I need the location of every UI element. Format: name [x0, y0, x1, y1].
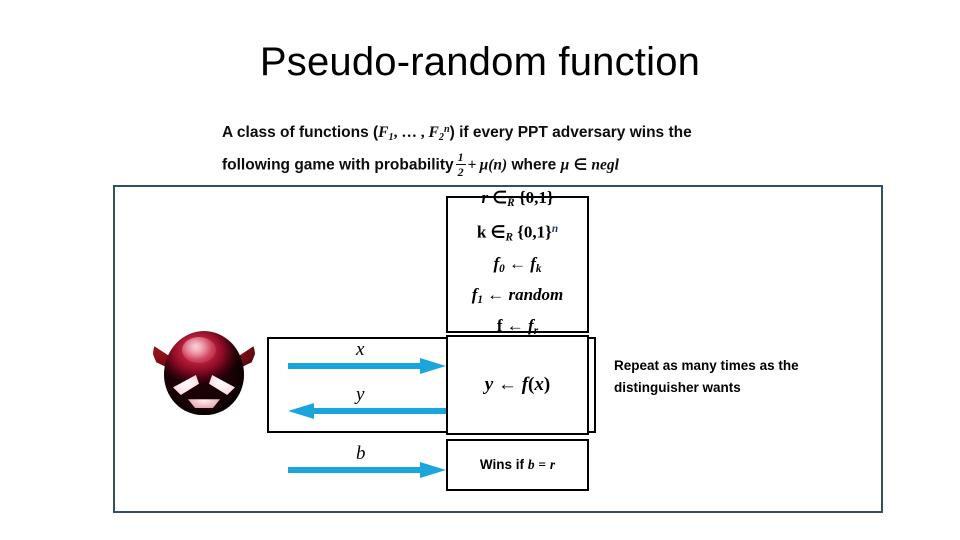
bit-set: {0,1}: [519, 188, 554, 207]
assign-arrow-3: ←: [507, 316, 524, 335]
response-y-arrow-row: y: [288, 385, 446, 419]
win-condition-text: Wins if b = r: [480, 457, 555, 473]
element-of-symbol: ∈: [574, 156, 588, 173]
random-symbol: random: [508, 285, 563, 304]
repeat-annotation: Repeat as many times as the distinguishe…: [614, 355, 842, 399]
devil-face-icon: [164, 331, 244, 415]
repeat-annotation-line-2: distinguisher wants: [614, 377, 842, 399]
win-condition-box: Wins if b = r: [446, 439, 589, 491]
repeat-annotation-line-1: Repeat as many times as the: [614, 355, 842, 377]
definition-line-1: A class of functions (F1, … , F2n) if ev…: [222, 116, 742, 151]
r-symbol: r: [481, 188, 488, 207]
setup-box: r ∈R {0,1} k ∈R {0,1}n f0 ← fk f1 ← rand…: [446, 196, 589, 333]
assign-arrow-2: ←: [487, 285, 504, 304]
definition-line2-prefix: following game with probability: [222, 156, 454, 173]
f0-subscript: 0: [499, 263, 505, 275]
definition-text: A class of functions (F1, … , F2n) if ev…: [222, 116, 742, 178]
function-symbol-F2: F: [429, 124, 439, 141]
setup-line-f0: f0 ← fk: [472, 251, 564, 282]
fraction-denominator: 2: [456, 166, 466, 178]
arrow-left-icon: [288, 403, 446, 437]
devil-adversary-icon: [152, 317, 256, 417]
setup-line-r: r ∈R {0,1}: [472, 185, 564, 216]
devil-mouth-icon: [188, 397, 220, 408]
oracle-response-box: y ← f(x): [446, 335, 589, 435]
oracle-assign-arrow: ←: [498, 374, 517, 395]
win-prefix: Wins if: [480, 457, 524, 472]
response-y-label: y: [356, 385, 364, 404]
n-symbol: n: [493, 156, 502, 173]
definition-line1-prefix: A class of functions (: [222, 124, 378, 141]
fraction-numerator: 1: [456, 151, 466, 163]
oracle-paren-close: ): [544, 374, 550, 395]
element-of-random-subscript-2: R: [505, 232, 512, 244]
devil-highlight: [182, 337, 216, 363]
k-symbol: k: [477, 222, 486, 241]
page-title: Pseudo-random function: [0, 40, 960, 84]
negl-symbol: negl: [591, 156, 619, 173]
element-of-random-subscript: R: [507, 197, 514, 209]
assign-arrow-1: ←: [509, 254, 526, 273]
bit-set-2: {0,1}: [517, 222, 552, 241]
element-of-random-symbol: ∈: [492, 188, 507, 207]
guess-b-label: b: [356, 444, 366, 463]
function-symbol-F1: F: [378, 124, 388, 141]
oracle-x-symbol: x: [534, 374, 544, 395]
definition-line-2: following game with probability12+ μ(n) …: [222, 151, 742, 179]
fk-subscript: k: [536, 263, 542, 275]
definition-where: where: [512, 156, 557, 173]
mu-symbol: μ: [480, 156, 489, 173]
devil-eye-right-icon: [209, 375, 235, 395]
equals-operator: =: [538, 457, 546, 472]
bit-set-exponent: n: [552, 223, 558, 235]
f-symbol: f: [497, 316, 503, 335]
arrow-right-icon: [288, 462, 446, 496]
element-of-random-symbol-2: ∈: [491, 222, 506, 241]
setup-line-f1: f1 ← random: [472, 282, 564, 313]
query-x-arrow-row: x: [288, 340, 446, 374]
f1-subscript: 1: [477, 294, 483, 306]
guess-b-arrow-row: b: [288, 444, 446, 478]
paren-close: ): [502, 156, 507, 173]
win-r-symbol: r: [550, 457, 555, 472]
devil-eye-left-icon: [173, 375, 199, 395]
mu-symbol-2: μ: [561, 156, 570, 173]
query-x-label: x: [356, 340, 364, 359]
definition-ellipsis: , … ,: [394, 124, 429, 141]
probability-fraction: 12: [456, 151, 466, 178]
oracle-equation: y ← f(x): [485, 374, 550, 396]
win-b-symbol: b: [528, 457, 535, 472]
definition-line1-suffix: ) if every PPT adversary wins the: [450, 124, 692, 141]
plus-operator: +: [468, 156, 477, 173]
setup-equations: r ∈R {0,1} k ∈R {0,1}n f0 ← fk f1 ← rand…: [472, 185, 564, 344]
oracle-y-symbol: y: [485, 374, 493, 395]
setup-line-k: k ∈R {0,1}n: [472, 216, 564, 251]
